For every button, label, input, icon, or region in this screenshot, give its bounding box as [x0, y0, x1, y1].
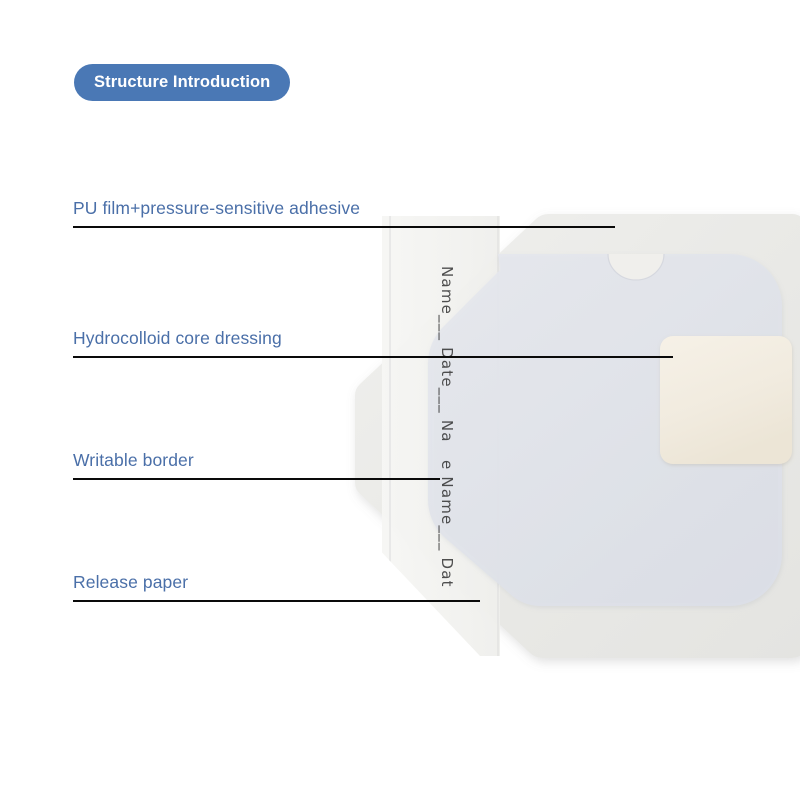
- section-title-badge: Structure Introduction: [74, 64, 290, 101]
- callout-label-release-paper: Release paper: [73, 572, 188, 593]
- product-illustration: [330, 206, 800, 676]
- leader-line-writable-border: [73, 478, 440, 480]
- callout-label-hydrocolloid: Hydrocolloid core dressing: [73, 328, 282, 349]
- diagram-canvas: Name___ Date___ Na e Name___ Dat PU film…: [0, 0, 800, 800]
- leader-line-hydrocolloid: [73, 356, 673, 358]
- leader-line-release-paper: [73, 600, 480, 602]
- leader-line-pu-film: [73, 226, 615, 228]
- writable-border-text-lower: e Name___ Dat: [438, 460, 456, 588]
- layer-hydrocolloid-pad: [660, 336, 792, 464]
- writable-border-text-upper: Name___ Date___ Na: [438, 266, 456, 443]
- callout-label-pu-film: PU film+pressure-sensitive adhesive: [73, 198, 360, 219]
- callout-label-writable-border: Writable border: [73, 450, 194, 471]
